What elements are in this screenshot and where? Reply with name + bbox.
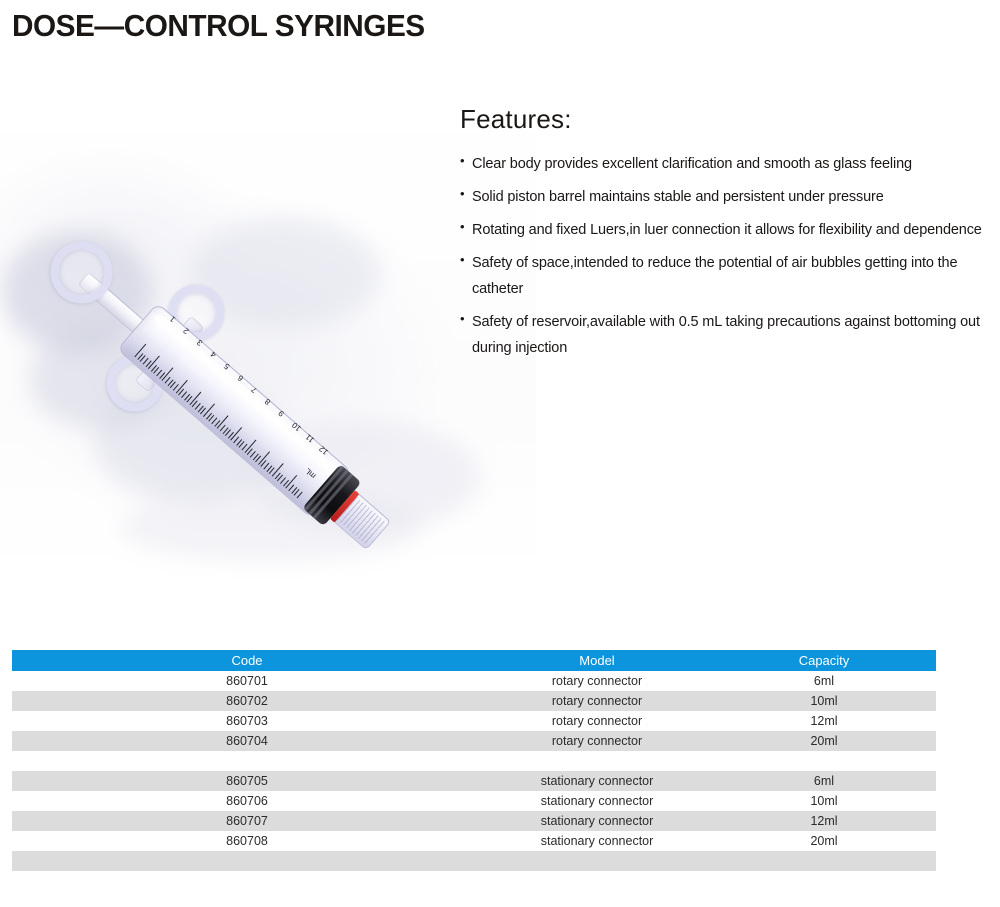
specification-table: Code Model Capacity 860701rotary connect…	[12, 650, 936, 871]
product-catalog-page: DOSE—CONTROL SYRINGES 123456789101112 mL	[0, 0, 1000, 907]
bullet-icon: •	[460, 309, 472, 329]
cell-code: 860705	[12, 774, 482, 788]
cell-model: rotary connector	[482, 694, 712, 708]
cell-code: 860703	[12, 714, 482, 728]
feature-text: Clear body provides excellent clarificat…	[472, 151, 912, 177]
table-spacer-row	[12, 751, 936, 771]
cell-code: 860706	[12, 794, 482, 808]
cell-model: stationary connector	[482, 774, 712, 788]
feature-item: •Safety of reservoir,available with 0.5 …	[460, 309, 990, 361]
features-section: Features: •Clear body provides excellent…	[460, 104, 990, 368]
bullet-icon: •	[460, 184, 472, 204]
cell-model: rotary connector	[482, 714, 712, 728]
table-row: 860702rotary connector10ml	[12, 691, 936, 711]
cell-model: stationary connector	[482, 794, 712, 808]
table-header-row: Code Model Capacity	[12, 650, 936, 671]
features-list: •Clear body provides excellent clarifica…	[460, 151, 990, 361]
cell-capacity: 6ml	[712, 774, 936, 788]
table-row: 860704rotary connector20ml	[12, 731, 936, 751]
cell-code: 860702	[12, 694, 482, 708]
table-row: 860707stationary connector12ml	[12, 811, 936, 831]
cell-model: rotary connector	[482, 734, 712, 748]
table-row: 860706stationary connector10ml	[12, 791, 936, 811]
cell-model: rotary connector	[482, 674, 712, 688]
feature-item: •Safety of space,intended to reduce the …	[460, 250, 990, 302]
cell-capacity: 10ml	[712, 794, 936, 808]
table-row	[12, 851, 936, 871]
table-row: 860705stationary connector6ml	[12, 771, 936, 791]
bullet-icon: •	[460, 217, 472, 237]
feature-text: Safety of reservoir,available with 0.5 m…	[472, 309, 990, 361]
cell-model: stationary connector	[482, 834, 712, 848]
table-row: 860708stationary connector20ml	[12, 831, 936, 851]
cell-capacity: 20ml	[712, 734, 936, 748]
column-header-capacity: Capacity	[712, 653, 936, 668]
column-header-model: Model	[482, 653, 712, 668]
bullet-icon: •	[460, 250, 472, 270]
feature-item: •Solid piston barrel maintains stable an…	[460, 184, 990, 210]
feature-text: Safety of space,intended to reduce the p…	[472, 250, 990, 302]
cell-model: stationary connector	[482, 814, 712, 828]
cell-capacity: 12ml	[712, 714, 936, 728]
cell-capacity: 6ml	[712, 674, 936, 688]
cell-capacity: 20ml	[712, 834, 936, 848]
cell-capacity: 12ml	[712, 814, 936, 828]
cell-capacity: 10ml	[712, 694, 936, 708]
feature-item: •Rotating and fixed Luers,in luer connec…	[460, 217, 990, 243]
features-heading: Features:	[460, 104, 990, 135]
cell-code: 860708	[12, 834, 482, 848]
feature-text: Rotating and fixed Luers,in luer connect…	[472, 217, 982, 243]
table-row: 860701rotary connector6ml	[12, 671, 936, 691]
cell-code: 860707	[12, 814, 482, 828]
feature-item: •Clear body provides excellent clarifica…	[460, 151, 990, 177]
bullet-icon: •	[460, 151, 472, 171]
feature-text: Solid piston barrel maintains stable and…	[472, 184, 884, 210]
column-header-code: Code	[12, 653, 482, 668]
cell-code: 860701	[12, 674, 482, 688]
table-row: 860703rotary connector12ml	[12, 711, 936, 731]
product-photo: 123456789101112 mL	[0, 92, 536, 579]
table-body: 860701rotary connector6ml860702rotary co…	[12, 671, 936, 871]
cell-code: 860704	[12, 734, 482, 748]
page-title: DOSE—CONTROL SYRINGES	[12, 8, 425, 44]
